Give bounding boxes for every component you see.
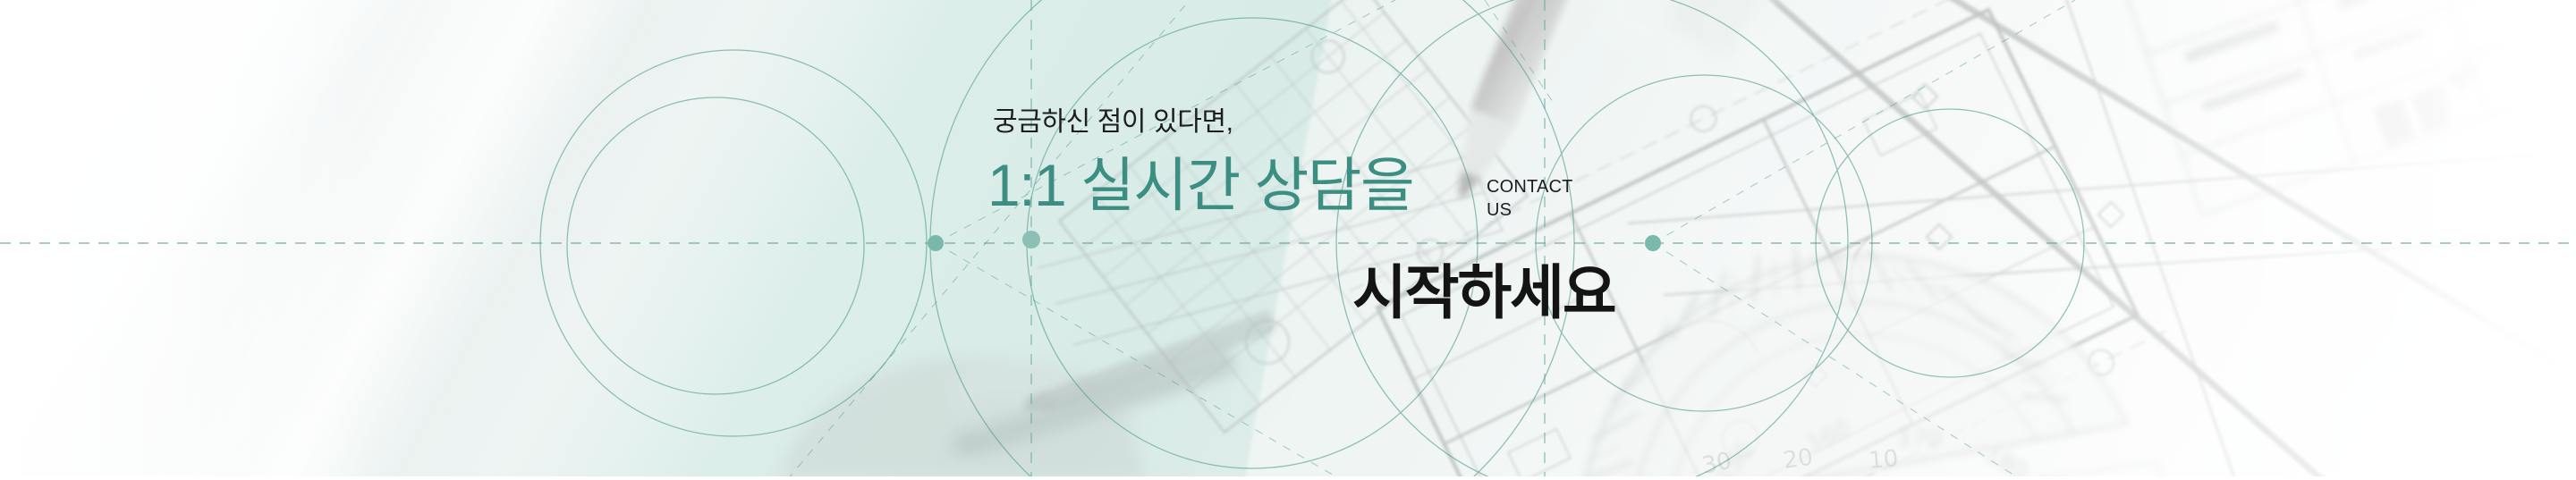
hero-kicker: 궁금하신 점이 있다면, [993,109,1233,136]
contact-us-label: CONTACT US [1487,176,1573,222]
bottom-white-strip [0,476,2576,480]
hero-copy-block: 궁금하신 점이 있다면, 1:1 실시간 상담을 CONTACT US 시작하세… [987,109,1667,368]
contact-us-hero-banner: 30 140 150 160 170 180 30 20 10 [0,0,2576,480]
hero-headline-secondary: 시작하세요 [1352,263,1615,322]
geometry-node-dot [928,235,944,251]
hero-headline-primary: 1:1 실시간 상담을 [987,156,1413,215]
